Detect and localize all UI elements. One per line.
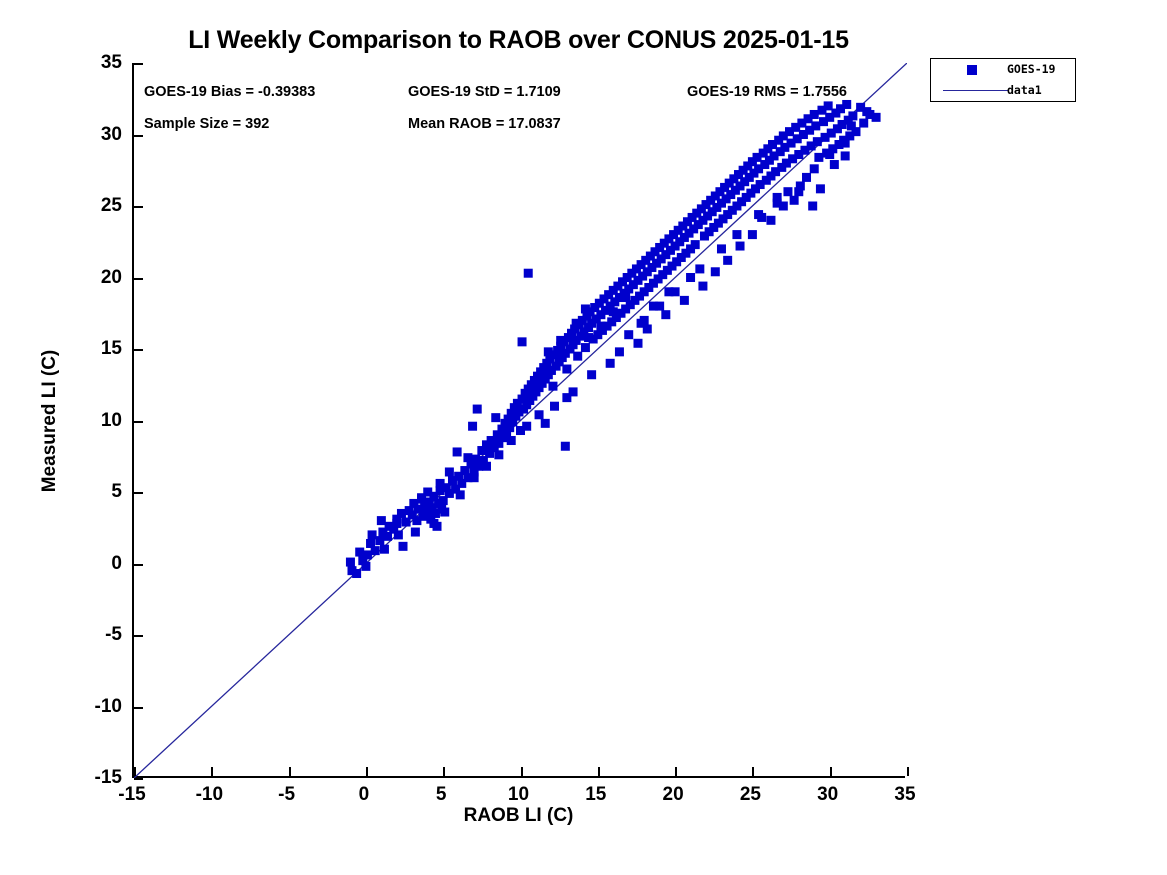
scatter-point	[375, 536, 384, 545]
scatter-points-group	[346, 100, 881, 578]
scatter-point	[732, 230, 741, 239]
reference-line-group	[134, 63, 907, 778]
x-tick-label--5: -5	[247, 784, 327, 806]
scatter-point	[794, 187, 803, 196]
scatter-point	[482, 462, 491, 471]
figure-canvas: LI Weekly Comparison to RAOB over CONUS …	[0, 0, 1167, 875]
annotation-std: GOES-19 StD = 1.7109	[408, 84, 561, 100]
scatter-point	[810, 110, 819, 119]
scatter-point	[825, 150, 834, 159]
legend-label-data1: data1	[1007, 83, 1073, 97]
scatter-point	[587, 370, 596, 379]
x-tick--15	[134, 767, 136, 776]
scatter-point	[507, 436, 516, 445]
x-tick-30	[830, 767, 832, 776]
scatter-point	[392, 519, 401, 528]
scatter-point	[842, 100, 851, 109]
scatter-point	[368, 530, 377, 539]
scatter-point	[736, 242, 745, 251]
scatter-point	[808, 202, 817, 211]
x-tick-5	[443, 767, 445, 776]
x-tick-label-25: 25	[710, 784, 790, 806]
scatter-point	[524, 269, 533, 278]
legend-box[interactable]: GOES-19 data1	[930, 58, 1076, 102]
scatter-point	[544, 347, 553, 356]
scatter-point	[440, 508, 449, 517]
y-tick-label--10: -10	[52, 696, 122, 718]
scatter-point	[723, 256, 732, 265]
scatter-point	[522, 422, 531, 431]
scatter-point	[399, 542, 408, 551]
y-axis-title: Measured LI (C)	[39, 291, 61, 551]
scatter-point	[380, 545, 389, 554]
scatter-point	[691, 240, 700, 249]
scatter-point	[456, 490, 465, 499]
annotation-rms: GOES-19 RMS = 1.7556	[687, 84, 847, 100]
scatter-point	[470, 473, 479, 482]
scatter-point	[779, 202, 788, 211]
scatter-point	[436, 479, 445, 488]
y-tick-label-10: 10	[52, 410, 122, 432]
scatter-point	[584, 333, 593, 342]
y-tick-35	[134, 63, 143, 65]
scatter-point	[698, 282, 707, 291]
scatter-point	[790, 196, 799, 205]
scatter-point	[711, 267, 720, 276]
x-tick-label-20: 20	[633, 784, 713, 806]
y-tick--5	[134, 635, 143, 637]
scatter-point	[814, 153, 823, 162]
scatter-point	[417, 493, 426, 502]
scatter-point	[346, 558, 355, 567]
scatter-point	[609, 307, 618, 316]
scatter-point	[411, 528, 420, 537]
scatter-point	[649, 302, 658, 311]
scatter-point	[473, 405, 482, 414]
x-tick-25	[752, 767, 754, 776]
scatter-point	[397, 509, 406, 518]
scatter-point	[494, 450, 503, 459]
scatter-point	[621, 293, 630, 302]
scatter-point	[453, 447, 462, 456]
annotation-bias: GOES-19 Bias = -0.39383	[144, 84, 315, 100]
scatter-point	[664, 287, 673, 296]
y-tick-0	[134, 564, 143, 566]
scatter-point	[717, 244, 726, 253]
scatter-point	[541, 419, 550, 428]
reference-line-1to1	[134, 63, 907, 778]
scatter-point	[548, 382, 557, 391]
x-tick-label--15: -15	[92, 784, 172, 806]
scatter-point	[766, 216, 775, 225]
legend-sample-marker	[939, 59, 1007, 81]
legend-entry-data1[interactable]: data1	[931, 80, 1077, 102]
scatter-point	[686, 273, 695, 282]
line-marker-icon	[943, 90, 1009, 91]
scatter-point	[851, 127, 860, 136]
scatter-point	[661, 310, 670, 319]
scatter-point	[841, 139, 850, 148]
scatter-point	[848, 111, 857, 120]
scatter-point	[811, 121, 820, 130]
x-tick-15	[598, 767, 600, 776]
y-tick-25	[134, 206, 143, 208]
x-tick-label-5: 5	[401, 784, 481, 806]
x-tick-0	[366, 767, 368, 776]
y-tick-5	[134, 492, 143, 494]
x-tick-label-0: 0	[324, 784, 404, 806]
scatter-point	[695, 264, 704, 273]
y-tick-label-0: 0	[52, 553, 122, 575]
scatter-point	[680, 296, 689, 305]
y-tick-20	[134, 278, 143, 280]
scatter-point	[830, 160, 839, 169]
x-tick-label-35: 35	[865, 784, 945, 806]
annotation-sample_size: Sample Size = 392	[144, 116, 269, 132]
x-tick-label-30: 30	[788, 784, 868, 806]
y-tick-label-5: 5	[52, 481, 122, 503]
scatter-point	[606, 359, 615, 368]
scatter-point	[841, 151, 850, 160]
y-tick-label-15: 15	[52, 338, 122, 360]
plot-area	[132, 63, 905, 778]
legend-label-goes19: GOES-19	[1007, 62, 1073, 76]
y-tick-30	[134, 135, 143, 137]
scatter-point	[550, 402, 559, 411]
scatter-point	[518, 337, 527, 346]
scatter-point	[562, 393, 571, 402]
scatter-point	[813, 137, 822, 146]
x-axis-title: RAOB LI (C)	[132, 805, 905, 827]
scatter-point	[816, 184, 825, 193]
scatter-point	[556, 336, 565, 345]
scatter-point	[773, 193, 782, 202]
scatter-point	[463, 453, 472, 462]
plot-canvas	[134, 63, 907, 778]
scatter-point	[802, 173, 811, 182]
scatter-point	[615, 347, 624, 356]
y-tick-label-25: 25	[52, 195, 122, 217]
x-tick-label--10: -10	[169, 784, 249, 806]
y-tick-label-35: 35	[52, 52, 122, 74]
scatter-point	[624, 330, 633, 339]
scatter-point	[535, 410, 544, 419]
annotation-mean_raob: Mean RAOB = 17.0837	[408, 116, 561, 132]
scatter-point	[562, 365, 571, 374]
scatter-point	[783, 187, 792, 196]
x-tick-35	[907, 767, 909, 776]
page-title: LI Weekly Comparison to RAOB over CONUS …	[132, 26, 905, 55]
scatter-point	[355, 548, 364, 557]
scatter-point	[491, 413, 500, 422]
scatter-point	[865, 110, 874, 119]
scatter-point	[581, 343, 590, 352]
x-tick-label-10: 10	[479, 784, 559, 806]
scatter-point	[810, 164, 819, 173]
y-tick-label-20: 20	[52, 267, 122, 289]
scatter-point	[573, 352, 582, 361]
x-tick-20	[675, 767, 677, 776]
scatter-point	[572, 319, 581, 328]
scatter-point	[596, 322, 605, 331]
legend-sample-line	[939, 80, 1007, 102]
scatter-point	[429, 519, 438, 528]
scatter-point	[361, 562, 370, 571]
y-tick--15	[134, 778, 143, 780]
x-tick--5	[289, 767, 291, 776]
scatter-point	[561, 442, 570, 451]
scatter-point	[824, 101, 833, 110]
scatter-point	[581, 304, 590, 313]
scatter-point	[754, 210, 763, 219]
y-tick-label-30: 30	[52, 124, 122, 146]
y-tick-15	[134, 349, 143, 351]
scatter-point	[633, 339, 642, 348]
scatter-point	[859, 119, 868, 128]
scatter-point	[445, 467, 454, 476]
y-tick--10	[134, 707, 143, 709]
scatter-point	[377, 516, 386, 525]
y-tick-10	[134, 421, 143, 423]
scatter-point	[468, 422, 477, 431]
scatter-point	[637, 319, 646, 328]
x-tick-label-15: 15	[556, 784, 636, 806]
square-marker-icon	[967, 65, 977, 75]
scatter-point	[371, 546, 380, 555]
scatter-point	[748, 230, 757, 239]
x-tick--10	[211, 767, 213, 776]
scatter-point	[352, 569, 361, 578]
y-tick-label--5: -5	[52, 624, 122, 646]
scatter-point	[363, 550, 372, 559]
scatter-point	[394, 530, 403, 539]
x-tick-10	[521, 767, 523, 776]
legend-entry-goes19[interactable]: GOES-19	[931, 59, 1077, 81]
